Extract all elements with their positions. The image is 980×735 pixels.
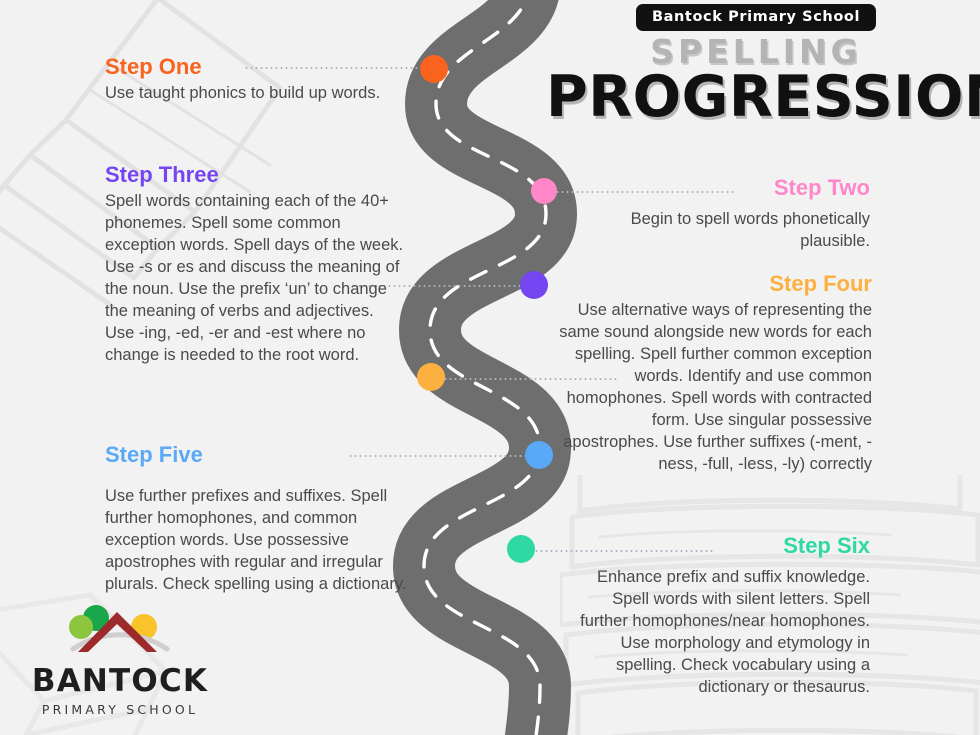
step-four-body: Use alternative ways of representing the… — [552, 299, 872, 475]
step-five-title: Step Five — [105, 443, 420, 467]
school-logo-mark-icon — [61, 602, 179, 664]
step-six-title: Step Six — [570, 534, 870, 558]
infographic-canvas: Bantock Primary School SPELLING PROGRESS… — [0, 0, 980, 735]
school-name-badge: Bantock Primary School — [636, 4, 876, 31]
step-block-one: Step One Use taught phonics to build up … — [105, 55, 415, 104]
milestone-dot-two — [531, 178, 557, 204]
school-logo-name: BANTOCK — [30, 666, 210, 697]
milestone-dot-five — [525, 441, 553, 469]
step-five-body: Use further prefixes and suffixes. Spell… — [105, 485, 420, 595]
milestone-dot-one — [420, 55, 448, 83]
step-block-six: Step Six Enhance prefix and suffix knowl… — [570, 534, 870, 698]
step-one-body: Use taught phonics to build up words. — [105, 82, 415, 104]
milestone-dot-six — [507, 535, 535, 563]
step-four-title: Step Four — [552, 272, 872, 296]
step-two-title: Step Two — [600, 176, 870, 200]
header: Bantock Primary School SPELLING PROGRESS… — [546, 4, 966, 126]
step-three-body: Spell words containing each of the 40+ p… — [105, 190, 405, 366]
school-logo-subtitle: PRIMARY SCHOOL — [30, 702, 210, 717]
step-one-title: Step One — [105, 55, 415, 79]
milestone-dot-four — [417, 363, 445, 391]
step-six-body: Enhance prefix and suffix knowledge. Spe… — [570, 566, 870, 698]
school-logo: BANTOCK PRIMARY SCHOOL — [30, 602, 210, 717]
step-two-body: Begin to spell words phonetically plausi… — [600, 208, 870, 252]
milestone-dot-three — [520, 271, 548, 299]
step-block-four: Step Four Use alternative ways of repres… — [552, 272, 872, 475]
step-block-five: Step Five Use further prefixes and suffi… — [105, 443, 420, 595]
title-progression: PROGRESSION — [546, 69, 966, 126]
step-block-two: Step Two Begin to spell words phonetical… — [600, 176, 870, 252]
step-block-three: Step Three Spell words containing each o… — [105, 163, 405, 366]
step-three-title: Step Three — [105, 163, 405, 187]
